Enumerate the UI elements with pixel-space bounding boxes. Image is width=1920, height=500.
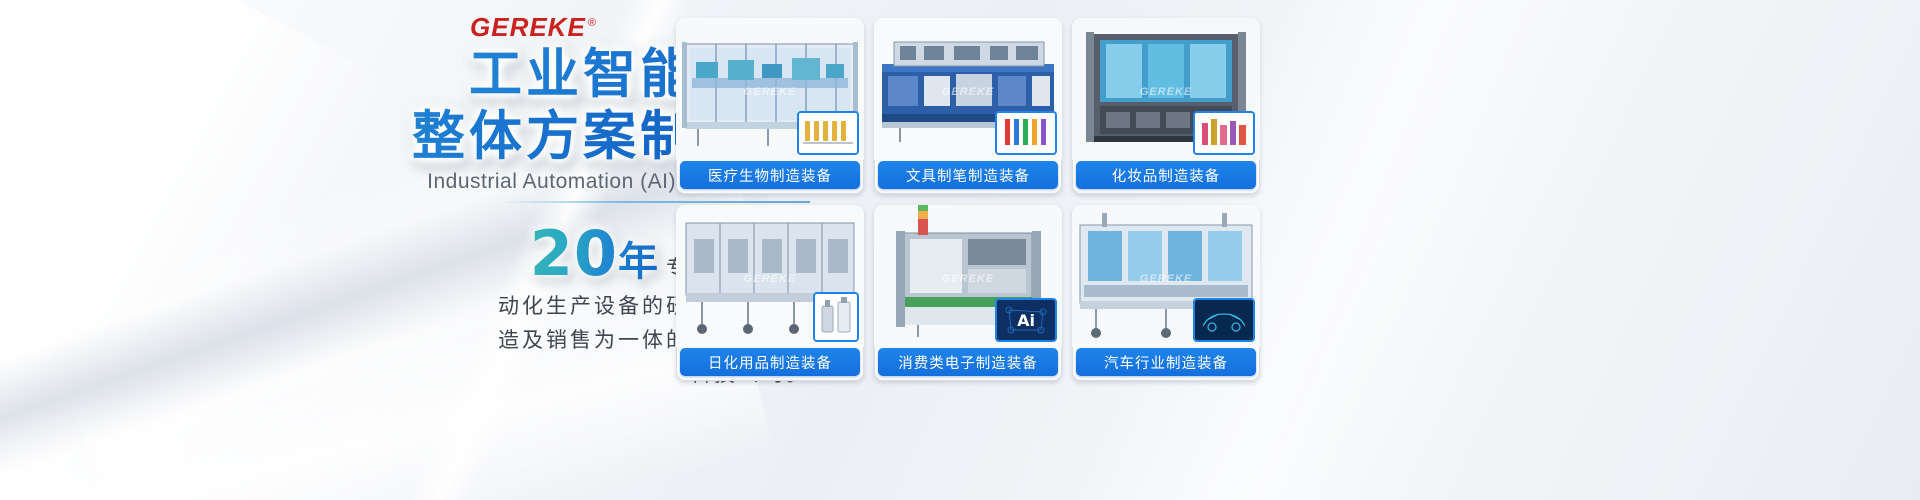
product-card-cosmetics[interactable]: GEREKE 化妆品制造装备	[1072, 18, 1260, 194]
product-photo-automotive: GEREKE	[1072, 205, 1260, 347]
product-photo-cosmetics: GEREKE	[1072, 18, 1260, 160]
product-label-consumer-electronics[interactable]: 消费类电子制造装备	[878, 348, 1058, 376]
ai-badge-thumbnail: Ai	[995, 298, 1057, 342]
product-card-consumer-electronics[interactable]: GEREKE Ai 消费类电子制造装备	[874, 205, 1062, 381]
registered-trademark-icon: ®	[588, 17, 597, 29]
years-unit: 年	[618, 239, 658, 285]
product-thumbnail	[813, 292, 859, 342]
brand-logo-text: GEREKE	[470, 12, 586, 42]
product-thumbnail	[1193, 111, 1255, 155]
product-card-grid: GEREKE 医疗生物制造装备	[676, 18, 1906, 482]
product-label-medical[interactable]: 医疗生物制造装备	[680, 161, 860, 189]
product-thumbnail	[995, 111, 1057, 155]
product-photo-daily-chemical: GEREKE	[676, 205, 864, 347]
product-label-cosmetics[interactable]: 化妆品制造装备	[1076, 161, 1256, 189]
product-label-stationery[interactable]: 文具制笔制造装备	[878, 161, 1058, 189]
product-photo-medical: GEREKE	[676, 18, 864, 160]
svg-text:Ai: Ai	[1017, 311, 1035, 330]
product-photo-consumer-electronics: GEREKE Ai	[874, 205, 1062, 347]
product-thumbnail	[1193, 298, 1255, 342]
promo-banner: GEREKE® 工业智能装备 整体方案制造商 Industrial Automa…	[0, 0, 1920, 500]
product-thumbnail	[797, 111, 859, 155]
brand-logo: GEREKE®	[470, 12, 597, 43]
product-label-daily-chemical[interactable]: 日化用品制造装备	[680, 348, 860, 376]
product-label-automotive[interactable]: 汽车行业制造装备	[1076, 348, 1256, 376]
product-photo-stationery: GEREKE	[874, 18, 1062, 160]
product-card-stationery[interactable]: GEREKE 文具制笔制造装备	[874, 18, 1062, 194]
years-number: 20年	[530, 222, 658, 294]
product-card-daily-chemical[interactable]: GEREKE 日化用品制造装备	[676, 205, 864, 381]
product-card-automotive[interactable]: GEREKE 汽车行业制造装备	[1072, 205, 1260, 381]
product-card-medical[interactable]: GEREKE 医疗生物制造装备	[676, 18, 864, 194]
years-value: 20	[530, 217, 618, 290]
